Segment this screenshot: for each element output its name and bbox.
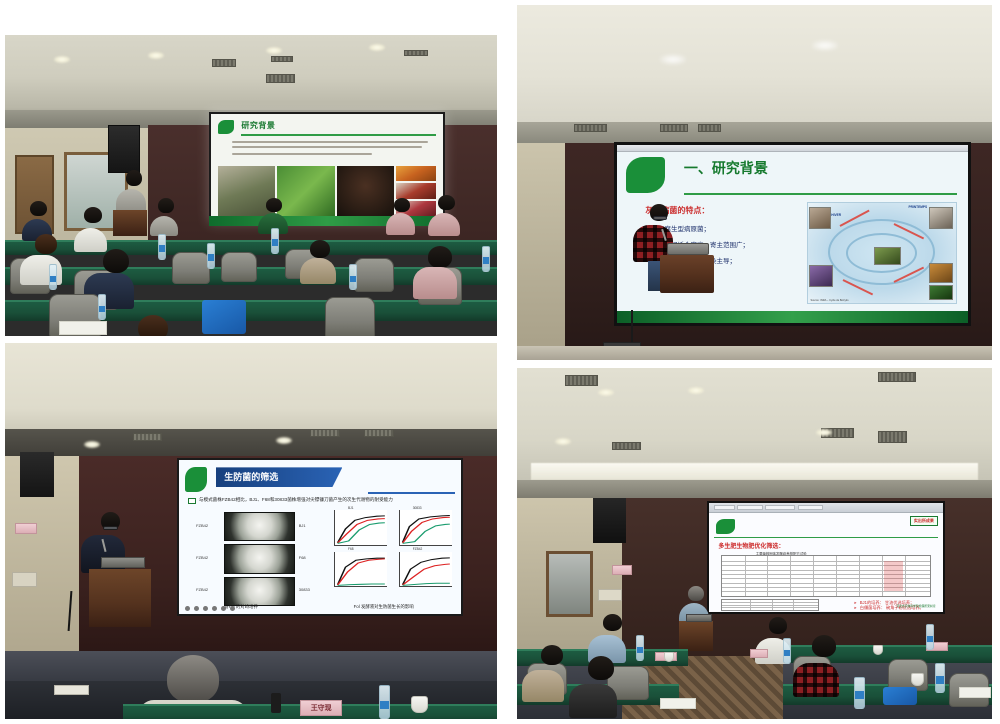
laptop: [101, 557, 145, 568]
cycle-season-label: HIVER: [831, 213, 841, 217]
water-bottle: [49, 264, 57, 290]
slide-view-icon[interactable]: [221, 606, 226, 611]
presentation-toolbar[interactable]: [617, 145, 967, 152]
attendee-head: [588, 656, 614, 680]
attendee-head: [35, 234, 57, 254]
cycle-source-note: Source: INRA – Cycle de Botrytis: [810, 299, 848, 302]
ceiling-light-strip: [531, 463, 978, 481]
title-rule: [241, 134, 436, 136]
chair: [221, 252, 257, 282]
water-bottle: [158, 234, 166, 260]
soffit: [517, 480, 992, 498]
attendee-head: [103, 249, 129, 273]
bullet-square-icon: [188, 498, 196, 504]
expand-icon[interactable]: [212, 606, 217, 611]
loudspeaker: [108, 125, 140, 173]
water-bottle: [349, 264, 357, 290]
water-bottle: [783, 638, 791, 664]
ceiling-light: [148, 52, 164, 59]
cycle-photo: [809, 265, 833, 287]
laptop: [667, 243, 709, 255]
ceiling-vent: [212, 59, 237, 67]
ceiling-vent: [266, 74, 296, 83]
ceiling-light: [84, 441, 100, 448]
wall-left: [517, 143, 565, 360]
tea-cup: [411, 696, 428, 713]
slide-title: 研究背景: [241, 120, 275, 131]
attendee-head: [541, 645, 563, 665]
browser-tab[interactable]: [765, 505, 795, 510]
water-bottle: [636, 635, 644, 661]
loudspeaker: [20, 452, 54, 497]
plate-label-left: FZB42: [196, 587, 208, 592]
highlighted-column: [884, 561, 903, 591]
hebppi-logo-icon: [716, 519, 735, 534]
wall-socket: [12, 572, 37, 587]
browser-tab[interactable]: [714, 505, 735, 510]
notebook: [660, 698, 696, 709]
attendee-head: [769, 617, 787, 634]
ceiling-vent: [133, 433, 163, 441]
wall-socket: [598, 589, 622, 601]
chair: [325, 297, 375, 336]
chair: [172, 252, 210, 284]
attendee-head: [812, 635, 836, 657]
growth-curve-chart: [334, 510, 387, 545]
plate-label-left: FZB42: [196, 523, 208, 528]
slide-title: 生防菌的筛选: [224, 470, 278, 483]
cycle-photo: [929, 263, 953, 283]
chair: [354, 258, 394, 292]
ceiling-vent: [404, 50, 429, 56]
panel-bottom-right-wide-hall: 实出所成果 多生肥生物肥优化筛选： 主要菌株固体发酵培养基配方试验: [517, 368, 992, 719]
foreground-attendee-head: [167, 655, 219, 703]
water-bottle: [207, 243, 215, 269]
more-icon[interactable]: [230, 606, 235, 611]
ceiling-light: [812, 41, 838, 50]
panel-top-left-lecture-hall: 研究背景: [5, 35, 497, 336]
presenter-head: [126, 170, 142, 186]
tote-bag: [883, 687, 917, 705]
petri-plate-image: [224, 544, 294, 573]
attendee-head: [158, 198, 174, 213]
window: [546, 551, 594, 618]
title-rule: [684, 193, 957, 195]
ceiling-vent: [364, 429, 394, 437]
water-bottle: [379, 685, 390, 719]
ceiling-vent: [878, 431, 907, 443]
exit-sign: [612, 565, 632, 575]
ceiling-light: [276, 437, 292, 444]
control-dot-icon[interactable]: [194, 606, 199, 611]
summary-table: [721, 599, 819, 611]
name-card: 王守现: [300, 700, 342, 716]
browser-tab[interactable]: [737, 505, 763, 510]
slide-image-infected-fruit: [396, 166, 436, 181]
ceiling-vent: [565, 375, 598, 386]
exit-sign: [15, 523, 37, 534]
ceiling-vent: [698, 124, 722, 132]
cycle-season-label: PRINTEMPS: [909, 205, 928, 209]
ceiling-light: [598, 389, 614, 396]
thermos: [271, 693, 281, 713]
attendee-body: [300, 258, 336, 284]
projection-screen: 生防菌的筛选 与模式菌株FZB42相比，BJ1、F68和30833菌株增强对尖镖…: [177, 458, 462, 616]
loudspeaker: [593, 498, 626, 544]
ceiling-vent: [574, 124, 607, 132]
ceiling-vent: [660, 124, 689, 132]
stage-edge: [517, 346, 992, 360]
pen-icon[interactable]: [203, 606, 208, 611]
water-bottle: [935, 663, 945, 693]
floor-plate: [54, 685, 88, 694]
soffit: [5, 429, 497, 455]
photo-collage: 研究背景: [0, 0, 1000, 724]
projection-screen: 实出所成果 多生肥生物肥优化筛选： 主要菌株固体发酵培养基配方试验: [707, 501, 945, 613]
glasses-icon: [103, 526, 118, 530]
glasses-icon: [653, 216, 667, 220]
presenter-head: [688, 586, 704, 601]
petri-plate-image: [224, 512, 294, 541]
slide-title: 多生肥生物肥优化筛选：: [718, 541, 784, 550]
slide-footer-banner: 河北省农林科学院植保所果树室: [896, 604, 935, 608]
cycle-photo: [874, 247, 901, 265]
water-bottle: [271, 228, 279, 254]
attendee-head: [310, 240, 330, 258]
podium: [89, 569, 151, 627]
slide-title: 一、研究背景: [684, 158, 768, 178]
ceiling-vent: [310, 429, 340, 437]
growth-curve-chart: [399, 510, 452, 545]
ceiling: [517, 5, 992, 133]
ceiling-light: [660, 55, 686, 64]
slide-statement: 与模式菌株FZB42相比，BJ1、F68和30833菌株增强对尖镖镰刀菌产生的次…: [199, 497, 393, 503]
attendee-body: [569, 684, 617, 718]
attendee-head: [438, 195, 455, 210]
panel-top-right-presenter: 一、研究背景 灰霉病菌的特点： 腐生型病原菌； 田间适合度高，寄主范围广； 产孢…: [517, 5, 992, 360]
slide-image-strawberry-plants: [277, 166, 334, 215]
podium: [113, 210, 147, 236]
chart-panel-title: 30833: [413, 506, 422, 510]
slide-body: [232, 141, 432, 158]
panel-bottom-left-presenter: 生防菌的筛选 与模式菌株FZB42相比，BJ1、F68和30833菌株增强对尖镖…: [5, 343, 497, 719]
results-table: [721, 555, 931, 596]
ceiling-light: [266, 47, 282, 54]
corner-tag: 实出所成果: [910, 516, 938, 526]
ceiling: [5, 343, 497, 437]
ceiling-vent: [271, 56, 293, 62]
figure-caption-right: Fol 发酵液对生防菌生长的影响: [354, 604, 414, 610]
hebppi-logo-icon: [626, 157, 665, 193]
attendee-head: [394, 198, 410, 212]
plate-label-right: BJ1: [299, 523, 306, 528]
water-bottle: [98, 294, 106, 320]
attendee-head: [30, 201, 47, 216]
plate-label-right: 30833: [299, 587, 310, 592]
plate-label-left: FZB42: [196, 555, 208, 560]
tote-bag: [202, 300, 246, 334]
ceiling-vent: [878, 372, 916, 383]
ceiling-vent: [612, 442, 641, 451]
petri-plate-image: [224, 577, 294, 606]
attendee-head: [603, 614, 622, 631]
notebook: [59, 321, 107, 335]
slide-image-diseased-root: [337, 166, 394, 215]
notebook: [959, 687, 991, 698]
projection-screen: 研究背景: [209, 112, 445, 223]
control-dot-icon[interactable]: [185, 606, 190, 611]
attendee-head: [84, 207, 102, 223]
cycle-photo: [929, 207, 953, 229]
water-bottle: [926, 624, 934, 650]
browser-tab[interactable]: [798, 505, 824, 510]
disease-cycle-diagram: PRINTEMPS HIVER Source: INRA – Cycle de …: [807, 202, 958, 304]
title-rule: [714, 537, 938, 539]
laptop: [686, 614, 712, 622]
attendee-plaid-shirt: [793, 663, 839, 697]
plate-label-right: F68: [299, 555, 306, 560]
growth-curve-chart: [399, 552, 452, 587]
hebppi-logo-icon: [218, 120, 234, 134]
slide-footer-banner: [617, 311, 967, 324]
attendee-body: [413, 267, 457, 299]
title-rule: [368, 492, 455, 494]
water-bottle: [854, 677, 865, 709]
presentation-controls[interactable]: [185, 605, 235, 612]
cycle-photo: [809, 207, 831, 229]
chart-panel-title: F68: [348, 547, 354, 551]
attendee-head: [138, 315, 168, 336]
attendee-head: [266, 198, 282, 212]
chart-panel-title: BJ1: [348, 506, 354, 510]
podium: [679, 621, 713, 651]
browser-toolbar[interactable]: [709, 503, 943, 513]
hebppi-logo-icon: [185, 467, 208, 492]
chart-panel-title: FZB42: [413, 547, 423, 551]
cycle-photo: [929, 285, 953, 300]
slide-image-gray-mold-berry: [396, 183, 436, 198]
name-card: [750, 649, 768, 658]
growth-curve-chart: [334, 552, 387, 587]
water-bottle: [482, 246, 490, 272]
attendee-head: [428, 246, 452, 268]
ceiling-light: [369, 44, 385, 51]
podium: [660, 255, 714, 293]
attendee-body: [522, 670, 564, 702]
